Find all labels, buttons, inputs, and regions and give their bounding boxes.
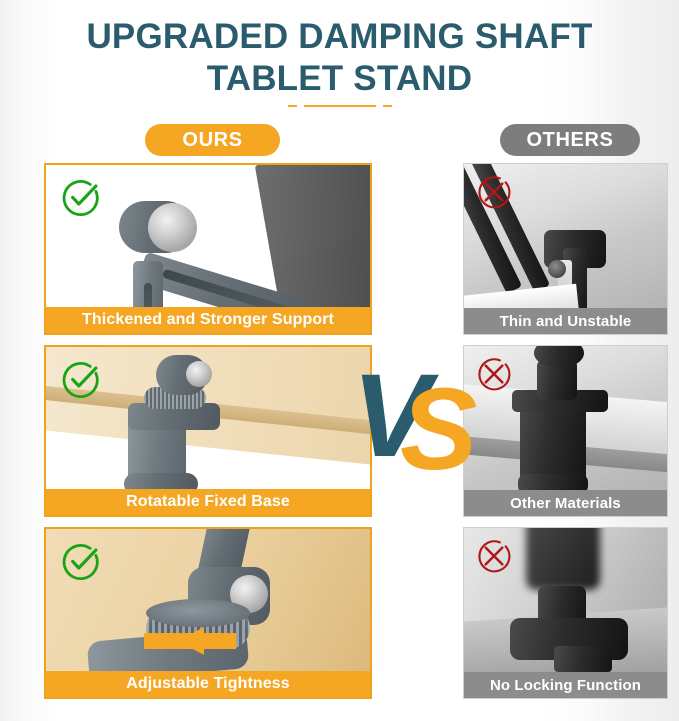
card-ours-1: Thickened and Stronger Support bbox=[44, 163, 372, 335]
red-cross-icon bbox=[474, 354, 514, 394]
card-others-1-photo bbox=[464, 164, 667, 308]
divider-bar bbox=[304, 105, 376, 107]
card-others-1-caption: Thin and Unstable bbox=[464, 308, 667, 334]
arm-lower-groove bbox=[144, 283, 152, 307]
title-line-1: UPGRADED DAMPING SHAFT bbox=[0, 16, 679, 58]
badge-ours: OURS bbox=[145, 124, 280, 156]
card-others-3-caption: No Locking Function bbox=[464, 672, 667, 698]
support-arm-lower bbox=[133, 261, 163, 307]
knob-top bbox=[146, 599, 250, 627]
card-others-1: Thin and Unstable bbox=[463, 163, 668, 335]
versus-letter-s: S bbox=[400, 373, 477, 485]
title-divider bbox=[0, 103, 679, 109]
rotation-arrow-head bbox=[178, 627, 204, 655]
card-ours-3-caption: Adjustable Tightness bbox=[46, 671, 370, 697]
card-ours-1-caption: Thickened and Stronger Support bbox=[46, 307, 370, 333]
card-others-2: Other Materials bbox=[463, 345, 668, 517]
green-check-icon bbox=[60, 540, 102, 582]
card-ours-3: Adjustable Tightness bbox=[44, 527, 372, 699]
divider-dash-right bbox=[383, 105, 392, 107]
card-others-3: No Locking Function bbox=[463, 527, 668, 699]
tablet-body bbox=[255, 165, 370, 307]
card-ours-2-caption: Rotatable Fixed Base bbox=[46, 489, 370, 515]
red-cross-icon bbox=[474, 536, 514, 576]
card-ours-1-photo bbox=[46, 165, 370, 307]
base-lip-black bbox=[554, 646, 612, 672]
desk-edge bbox=[464, 284, 579, 308]
title-line-2: TABLET STAND bbox=[0, 58, 679, 100]
blurred-post bbox=[526, 528, 600, 590]
card-others-3-photo bbox=[464, 528, 667, 672]
card-others-2-caption: Other Materials bbox=[464, 490, 667, 516]
joint-screw-cap bbox=[186, 361, 212, 387]
product-comparison-infographic: UPGRADED DAMPING SHAFT TABLET STAND OURS… bbox=[0, 0, 679, 721]
clamp-foot-black bbox=[518, 474, 588, 490]
card-ours-2: Rotatable Fixed Base bbox=[44, 345, 372, 517]
red-cross-icon bbox=[474, 172, 514, 212]
card-ours-3-photo bbox=[46, 529, 370, 671]
green-check-icon bbox=[60, 358, 102, 400]
divider-dash-left bbox=[288, 105, 297, 107]
badge-others: OTHERS bbox=[500, 124, 640, 156]
page-title: UPGRADED DAMPING SHAFT TABLET STAND bbox=[0, 16, 679, 100]
card-ours-2-photo bbox=[46, 347, 370, 489]
versus-mark: V S bbox=[352, 360, 477, 472]
pivot-screw bbox=[548, 260, 566, 278]
green-check-icon bbox=[60, 176, 102, 218]
clamp-foot bbox=[124, 473, 198, 489]
card-others-2-photo bbox=[464, 346, 667, 490]
hinge-cap bbox=[148, 203, 197, 252]
